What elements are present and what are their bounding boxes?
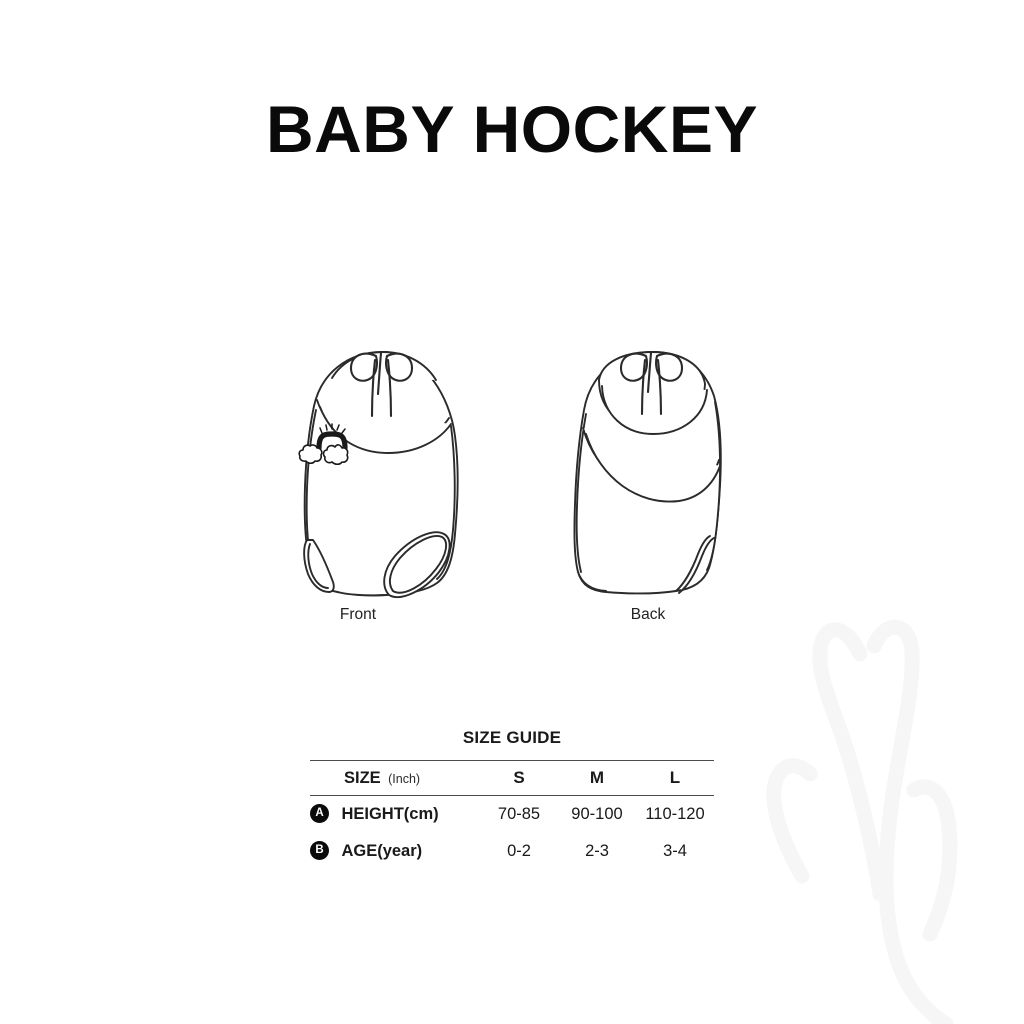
cell-age-s: 0-2 [480, 833, 558, 870]
cell-age-l: 3-4 [636, 833, 714, 870]
table-row: A HEIGHT(cm) 70-85 90-100 110-120 [310, 796, 714, 834]
header-size-unit: (Inch) [388, 772, 420, 786]
size-guide-section: SIZE GUIDE SIZE (Inch) S M L [310, 728, 714, 870]
decorative-watermark [764, 594, 1024, 1024]
badge-a: A [310, 804, 329, 823]
page-title: BABY HOCKEY [0, 96, 1024, 162]
garment-back-illustration [552, 334, 752, 614]
product-size-guide-page: BABY HOCKEY [0, 0, 1024, 1024]
cell-age-m: 2-3 [558, 833, 636, 870]
row-label-text-height: HEIGHT(cm) [341, 805, 438, 823]
garment-front-illustration [283, 334, 483, 614]
caption-front: Front [278, 606, 438, 624]
cell-height-m: 90-100 [558, 796, 636, 834]
header-cell-s: S [480, 761, 558, 796]
badge-b: B [310, 841, 329, 860]
header-cell-m: M [558, 761, 636, 796]
cell-height-l: 110-120 [636, 796, 714, 834]
table-header-row: SIZE (Inch) S M L [310, 761, 714, 796]
size-guide-heading: SIZE GUIDE [310, 728, 714, 748]
row-label-height: A HEIGHT(cm) [310, 796, 480, 834]
row-label-age: B AGE(year) [310, 833, 480, 870]
header-cell-l: L [636, 761, 714, 796]
size-guide-table: SIZE (Inch) S M L A HEIGHT(cm) 70-85 90-… [310, 760, 714, 870]
header-cell-size: SIZE (Inch) [310, 761, 480, 796]
product-illustrations [0, 334, 1024, 634]
table-row: B AGE(year) 0-2 2-3 3-4 [310, 833, 714, 870]
cell-height-s: 70-85 [480, 796, 558, 834]
row-label-text-age: AGE(year) [341, 842, 422, 860]
header-size-title: SIZE [344, 769, 381, 787]
caption-back: Back [568, 606, 728, 624]
